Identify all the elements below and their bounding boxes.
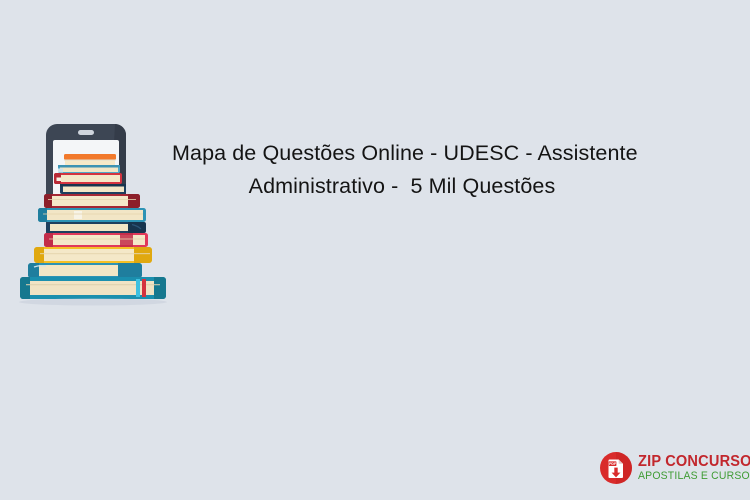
- logo-secondary-text: APOSTILAS E CURSOS: [638, 470, 750, 483]
- pdf-download-circle-icon: PDF: [598, 450, 634, 486]
- logo-wordmark: ZIP CONCURSOS APOSTILAS E CURSOS: [638, 453, 750, 483]
- book-pink: [44, 233, 148, 247]
- bookmark-red: [142, 279, 146, 297]
- promo-banner: Mapa de Questões Online - UDESC - Assist…: [0, 0, 750, 500]
- book-crimson-1: [54, 173, 122, 184]
- page-title: Mapa de Questões Online - UDESC - Assist…: [172, 137, 632, 203]
- bookmark-blue: [136, 279, 140, 297]
- book-dark-red: [44, 194, 140, 208]
- logo-primary-text: ZIP CONCURSOS: [638, 453, 750, 470]
- book-light-blue-1: [58, 165, 120, 173]
- book-cyan-1: [38, 208, 146, 222]
- book-navy-1: [60, 184, 126, 194]
- books-and-smartphone-illustration: [8, 118, 178, 318]
- svg-text:PDF: PDF: [609, 462, 617, 466]
- book-navy-2: [46, 222, 146, 233]
- book-orange: [64, 154, 116, 165]
- book-teal-1: [28, 263, 142, 278]
- zip-concursos-logo[interactable]: PDF ZIP CONCURSOS APOSTILAS E CURSOS: [598, 450, 750, 486]
- title-line-2: Administrativo - 5 Mil Questões: [172, 170, 632, 203]
- book-teal-base: [20, 277, 166, 299]
- title-line-1: Mapa de Questões Online - UDESC - Assist…: [172, 137, 632, 170]
- book-yellow: [34, 247, 152, 263]
